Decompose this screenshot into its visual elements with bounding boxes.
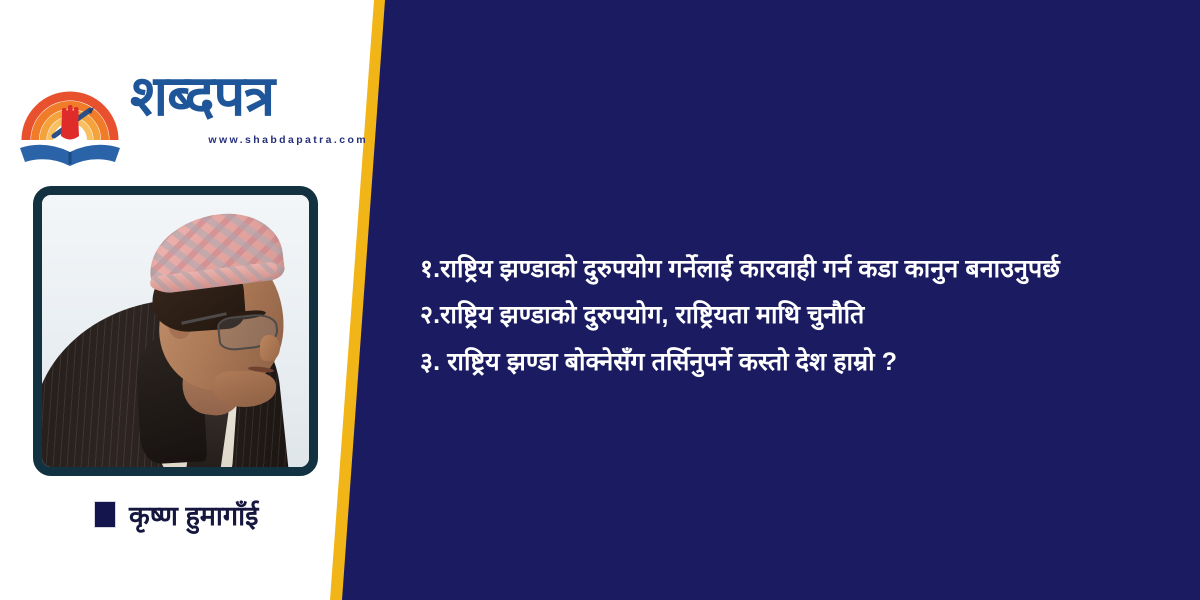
headline-item-3[interactable]: ३. राष्ट्रिय झ‌ण्डा बोक्नेसँग तर्सिनुपर्… bbox=[420, 339, 1160, 385]
poster-canvas: शब्दपत्र www.shabdapatra.com bbox=[0, 0, 1200, 600]
brand-logo[interactable]: शब्दपत्र www.shabdapatra.com bbox=[18, 62, 368, 167]
square-bullet-icon bbox=[94, 501, 116, 528]
portrait-frame bbox=[33, 186, 318, 476]
logo-text-wrap: शब्दपत्र www.shabdapatra.com bbox=[130, 62, 370, 146]
logo-wordmark: शब्दपत्र bbox=[130, 62, 370, 132]
portrait-nose bbox=[260, 335, 280, 361]
headline-list: १.राष्ट्रिय झ‌ण्डाको दुरुपयोग गर्नेलाई क… bbox=[420, 246, 1160, 385]
headline-item-2[interactable]: २.राष्ट्रिय झ‌ण्डाको दुरुपयोग, राष्ट्रिय… bbox=[420, 292, 1160, 338]
author-name: कृष्ण हुमागाँई bbox=[129, 496, 258, 533]
byline: कृष्ण हुमागाँई bbox=[94, 496, 258, 533]
logo-url[interactable]: www.shabdapatra.com bbox=[130, 134, 370, 146]
logo-mark-icon bbox=[18, 68, 122, 166]
headline-item-1[interactable]: १.राष्ट्रिय झ‌ण्डाको दुरुपयोग गर्नेलाई क… bbox=[420, 246, 1160, 292]
portrait-photo bbox=[42, 195, 309, 467]
